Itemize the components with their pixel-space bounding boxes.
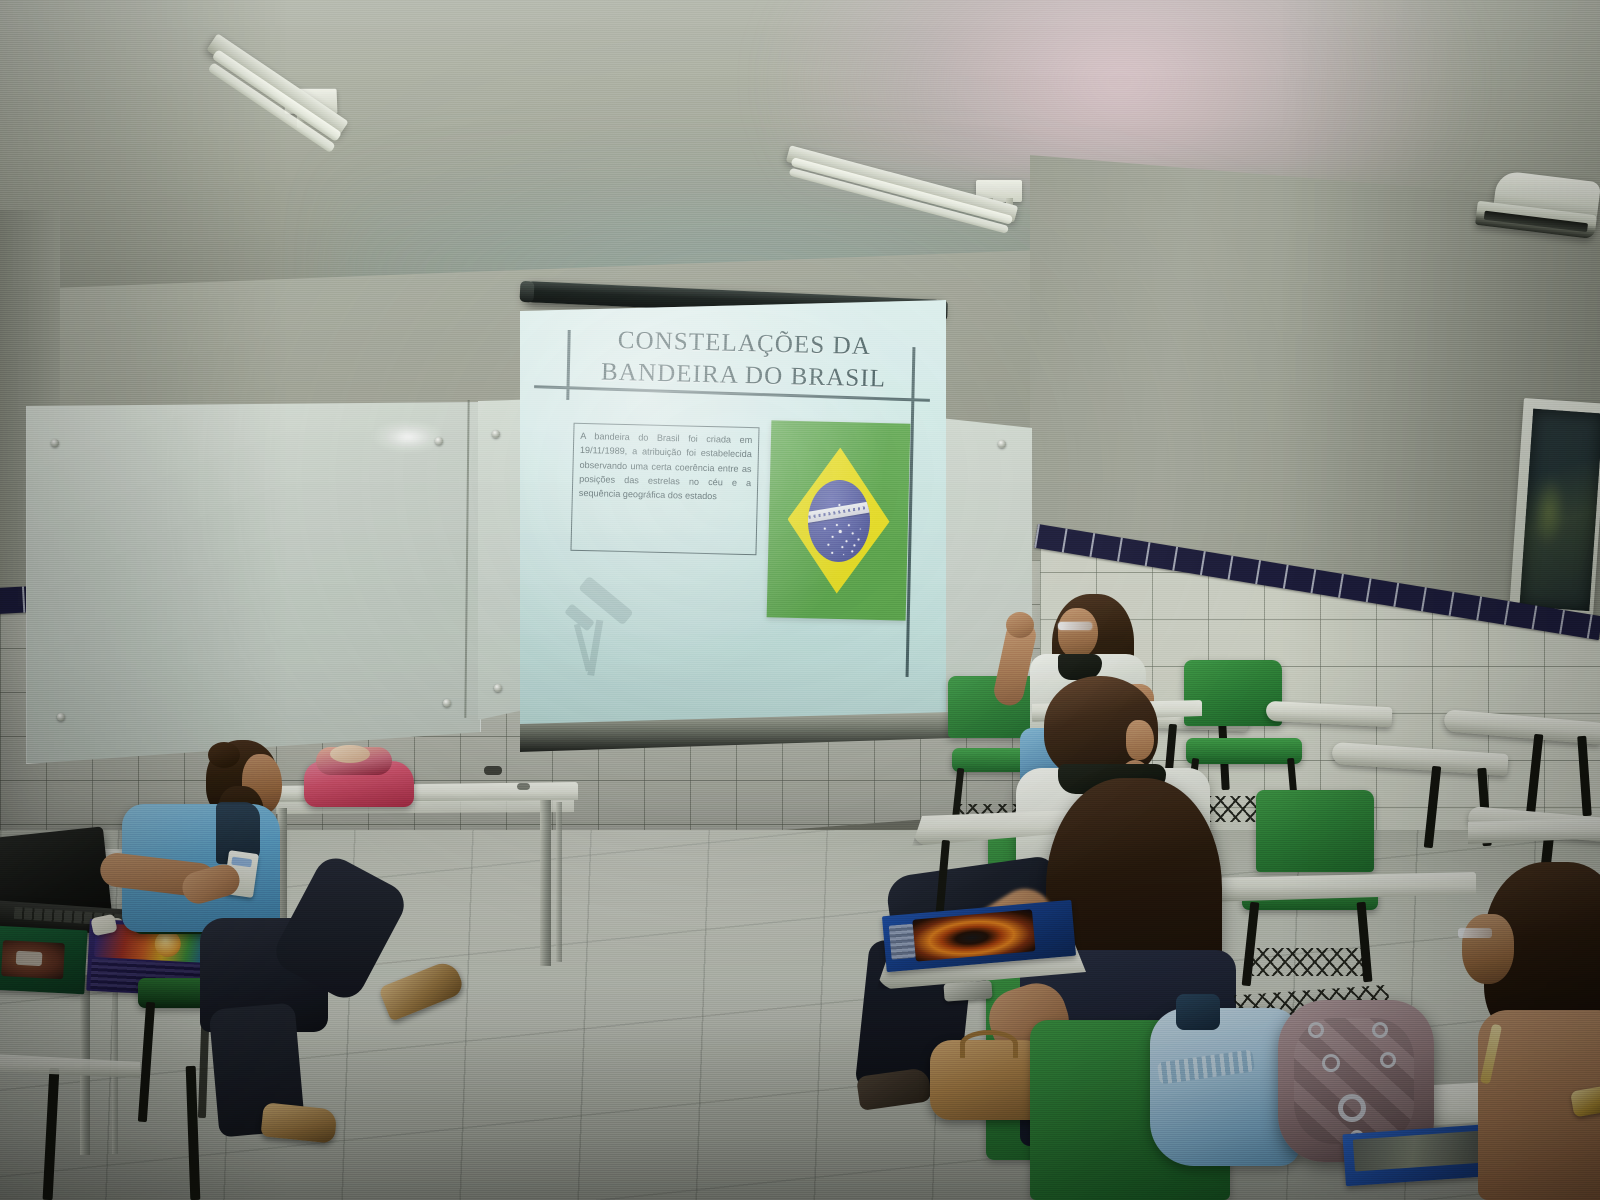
eyeglasses <box>1458 928 1492 938</box>
classroom-scene: CONSTELAÇÕES DA BANDEIRA DO BRASIL A ban… <box>0 0 1600 1200</box>
whiteboard <box>26 402 481 764</box>
student-left <box>96 740 486 1160</box>
whiteboard-glare <box>370 420 440 454</box>
ceiling-light-1 <box>185 88 345 218</box>
face <box>1462 914 1514 984</box>
student-right <box>1460 862 1600 1200</box>
mobile-phone[interactable] <box>943 980 992 1001</box>
book-stack-green <box>0 926 88 995</box>
sandal-right <box>378 958 466 1021</box>
presentation-slide: CONSTELAÇÕES DA BANDEIRA DO BRASIL A ban… <box>520 300 946 752</box>
raised-hand <box>1006 612 1034 638</box>
eyeglasses <box>1058 622 1092 630</box>
slide-title: CONSTELAÇÕES DA BANDEIRA DO BRASIL <box>567 324 920 396</box>
eraser[interactable] <box>517 783 530 790</box>
projection-screen: CONSTELAÇÕES DA BANDEIRA DO BRASIL A ban… <box>520 300 946 752</box>
slide-body-textbox: A bandeira do Brasil foi criada em 19/11… <box>570 423 759 556</box>
sandal-left <box>260 1102 337 1144</box>
flag-banner <box>807 498 871 524</box>
brazil-flag-image <box>767 420 911 620</box>
air-conditioner <box>1472 168 1600 260</box>
ear-face <box>1126 720 1154 760</box>
remote-control[interactable] <box>484 766 502 775</box>
window <box>1509 398 1600 617</box>
telescope-watermark-icon <box>557 585 652 693</box>
